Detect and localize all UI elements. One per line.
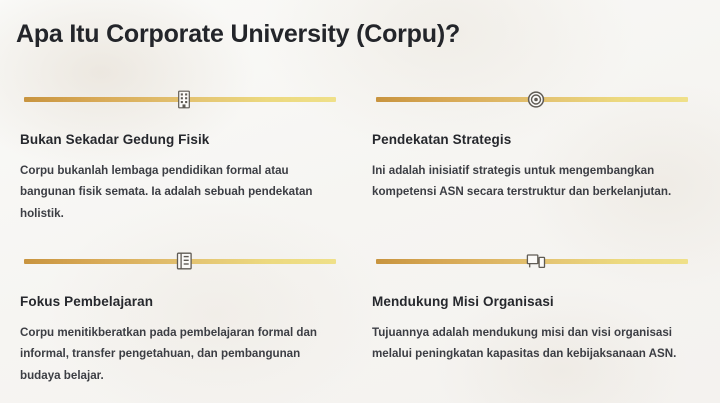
card-body: Corpu bukanlah lembaga pendidikan formal… bbox=[20, 160, 340, 224]
card-divider bbox=[20, 88, 348, 110]
slide-content: Apa Itu Corporate University (Corpu)? bbox=[0, 0, 720, 403]
book-icon bbox=[175, 251, 194, 272]
card-divider bbox=[372, 250, 700, 272]
presentation-icon bbox=[527, 251, 546, 272]
card-title: Pendekatan Strategis bbox=[372, 132, 700, 147]
card-divider bbox=[372, 88, 700, 110]
card-body: Corpu menitikberatkan pada pembelajaran … bbox=[20, 322, 340, 386]
card-title: Bukan Sekadar Gedung Fisik bbox=[20, 132, 348, 147]
feature-card-fokus-pembelajaran[interactable]: Fokus Pembelajaran Corpu menitikberatkan… bbox=[8, 250, 360, 403]
feature-card-grid: Bukan Sekadar Gedung Fisik Corpu bukanla… bbox=[8, 88, 712, 403]
card-divider bbox=[20, 250, 348, 272]
building-icon bbox=[175, 89, 194, 110]
feature-card-gedung-fisik[interactable]: Bukan Sekadar Gedung Fisik Corpu bukanla… bbox=[8, 88, 360, 250]
card-title: Fokus Pembelajaran bbox=[20, 294, 348, 309]
card-body: Tujuannya adalah mendukung misi dan visi… bbox=[372, 322, 692, 365]
target-icon bbox=[527, 89, 546, 110]
card-body: Ini adalah inisiatif strategis untuk men… bbox=[372, 160, 692, 203]
page-title: Apa Itu Corporate University (Corpu)? bbox=[16, 20, 460, 49]
card-title: Mendukung Misi Organisasi bbox=[372, 294, 700, 309]
feature-card-pendekatan-strategis[interactable]: Pendekatan Strategis Ini adalah inisiati… bbox=[360, 88, 712, 250]
feature-card-misi-organisasi[interactable]: Mendukung Misi Organisasi Tujuannya adal… bbox=[360, 250, 712, 403]
